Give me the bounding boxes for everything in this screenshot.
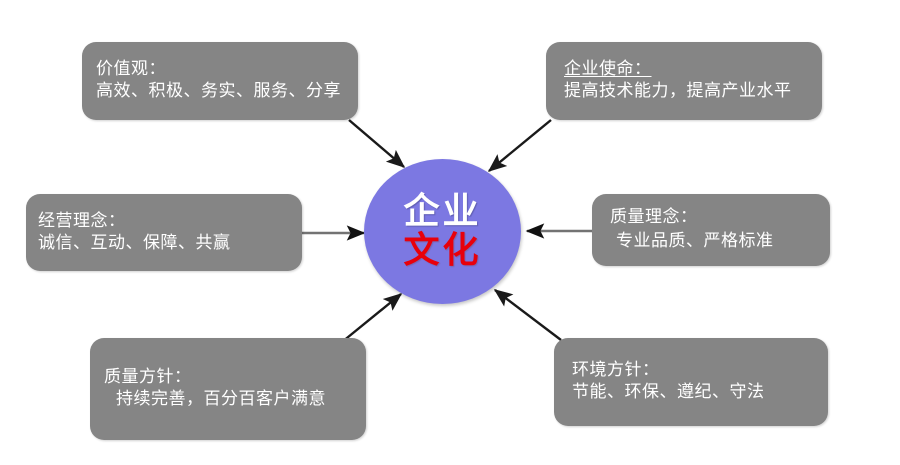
node-environment-body: 节能、环保、遵纪、守法 xyxy=(572,382,828,404)
node-values-title: 价值观： xyxy=(96,59,358,81)
node-quality-policy[interactable]: 质量方针： 持续完善，百分百客户满意 xyxy=(90,338,366,440)
center-hub-ellipse[interactable]: 企业 文化 xyxy=(364,159,521,304)
node-quality-policy-title: 质量方针： xyxy=(104,367,366,389)
node-environment-title: 环境方针： xyxy=(572,360,828,382)
diagram-canvas: 价值观： 高效、积极、务实、服务、分享 企业使命： 提高技术能力，提高产业水平 … xyxy=(0,0,900,465)
arrow-values-to-center xyxy=(349,120,404,167)
node-environment[interactable]: 环境方针： 节能、环保、遵纪、守法 xyxy=(554,338,828,426)
node-quality-policy-body: 持续完善，百分百客户满意 xyxy=(104,389,366,411)
node-values[interactable]: 价值观： 高效、积极、务实、服务、分享 xyxy=(82,42,358,120)
node-quality-idea-body: 专业品质、严格标准 xyxy=(610,231,830,253)
node-mission-body: 提高技术能力，提高产业水平 xyxy=(564,81,822,103)
node-values-body: 高效、积极、务实、服务、分享 xyxy=(96,81,358,103)
node-management-title: 经营理念： xyxy=(38,211,302,233)
arrow-environment-to-center xyxy=(495,290,561,340)
node-quality-idea[interactable]: 质量理念： 专业品质、严格标准 xyxy=(592,194,830,266)
arrow-mission-to-center xyxy=(489,120,551,171)
node-management-body: 诚信、互动、保障、共赢 xyxy=(38,233,302,255)
node-mission-title: 企业使命： xyxy=(564,59,822,81)
center-hub-line-2: 文化 xyxy=(403,233,481,270)
arrow-quality-policy-to-center xyxy=(342,294,401,342)
node-mission[interactable]: 企业使命： 提高技术能力，提高产业水平 xyxy=(546,42,822,120)
node-management[interactable]: 经营理念： 诚信、互动、保障、共赢 xyxy=(26,194,302,271)
center-hub-line-1: 企业 xyxy=(403,194,481,231)
node-quality-idea-title: 质量理念： xyxy=(610,207,830,229)
